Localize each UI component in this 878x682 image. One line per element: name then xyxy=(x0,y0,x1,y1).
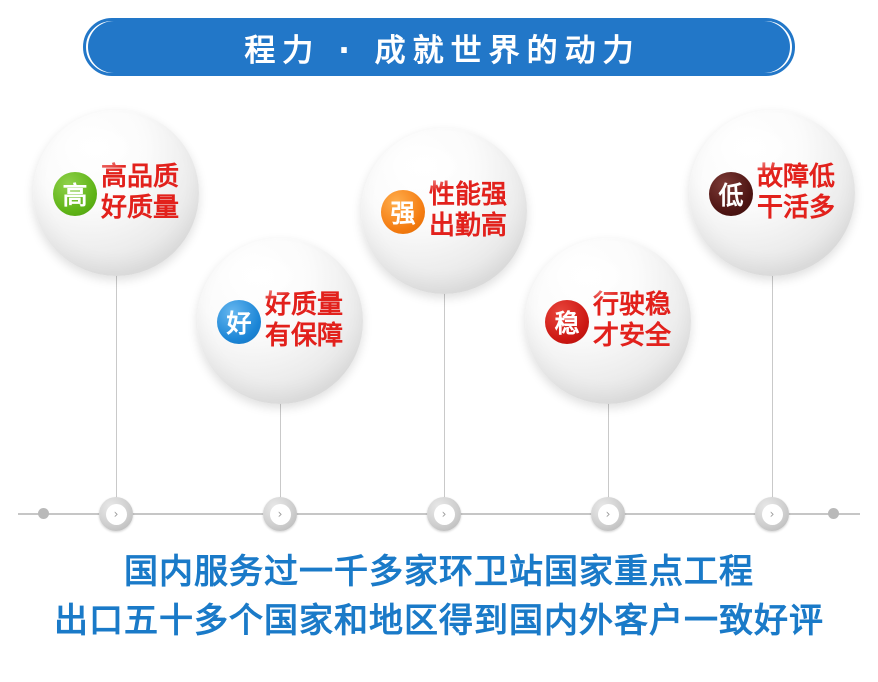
poster-canvas: 程力 · 成就世界的动力 高 高品质 好质量 好 好质量 有保障 强 性能强 xyxy=(0,0,878,682)
bubble-5-line-1: 故障低 xyxy=(757,162,835,193)
timeline-node-1[interactable]: › xyxy=(99,497,133,531)
stem-2 xyxy=(280,400,281,512)
bubble-2-line-1: 好质量 xyxy=(265,290,343,321)
footer-text-block: 国内服务过一千多家环卫站国家重点工程 出口五十多个国家和地区得到国内外客户一致好… xyxy=(0,548,878,647)
bubble-badge-2: 好 xyxy=(217,300,261,344)
stem-4 xyxy=(608,400,609,512)
feature-bubble-2: 好 好质量 有保障 xyxy=(197,238,363,404)
stem-1 xyxy=(116,272,117,512)
bubble-badge-5: 低 xyxy=(709,172,753,216)
stem-5 xyxy=(772,272,773,512)
bubble-2-line-2: 有保障 xyxy=(265,321,343,352)
bubble-4-line-2: 才安全 xyxy=(593,321,671,352)
banner-title: 程力 · 成就世界的动力 xyxy=(237,25,640,70)
timeline-endcap-right xyxy=(828,508,839,519)
chevron-right-icon: › xyxy=(762,504,783,525)
bubble-badge-4: 稳 xyxy=(545,300,589,344)
chevron-right-icon: › xyxy=(598,504,619,525)
timeline-endcap-left xyxy=(38,508,49,519)
chevron-right-icon: › xyxy=(270,504,291,525)
bubble-1-line-1: 高品质 xyxy=(101,162,179,193)
bubble-5-line-2: 干活多 xyxy=(757,193,835,224)
header-banner: 程力 · 成就世界的动力 xyxy=(88,21,790,73)
stem-3 xyxy=(444,290,445,512)
chevron-right-icon: › xyxy=(106,504,127,525)
bubble-3-line-1: 性能强 xyxy=(429,180,507,211)
bubble-1-line-2: 好质量 xyxy=(101,193,179,224)
timeline-node-5[interactable]: › xyxy=(755,497,789,531)
footer-line-2: 出口五十多个国家和地区得到国内外客户一致好评 xyxy=(0,597,878,646)
bubble-badge-1: 高 xyxy=(53,172,97,216)
feature-bubble-4: 稳 行驶稳 才安全 xyxy=(525,238,691,404)
timeline-node-2[interactable]: › xyxy=(263,497,297,531)
feature-bubble-3: 强 性能强 出勤高 xyxy=(361,128,527,294)
bubble-3-line-2: 出勤高 xyxy=(429,211,507,242)
timeline-node-4[interactable]: › xyxy=(591,497,625,531)
chevron-right-icon: › xyxy=(434,504,455,525)
footer-line-1: 国内服务过一千多家环卫站国家重点工程 xyxy=(0,548,878,597)
timeline-node-3[interactable]: › xyxy=(427,497,461,531)
feature-bubble-5: 低 故障低 干活多 xyxy=(689,110,855,276)
bubble-badge-3: 强 xyxy=(381,190,425,234)
bubble-4-line-1: 行驶稳 xyxy=(593,290,671,321)
feature-bubble-1: 高 高品质 好质量 xyxy=(33,110,199,276)
